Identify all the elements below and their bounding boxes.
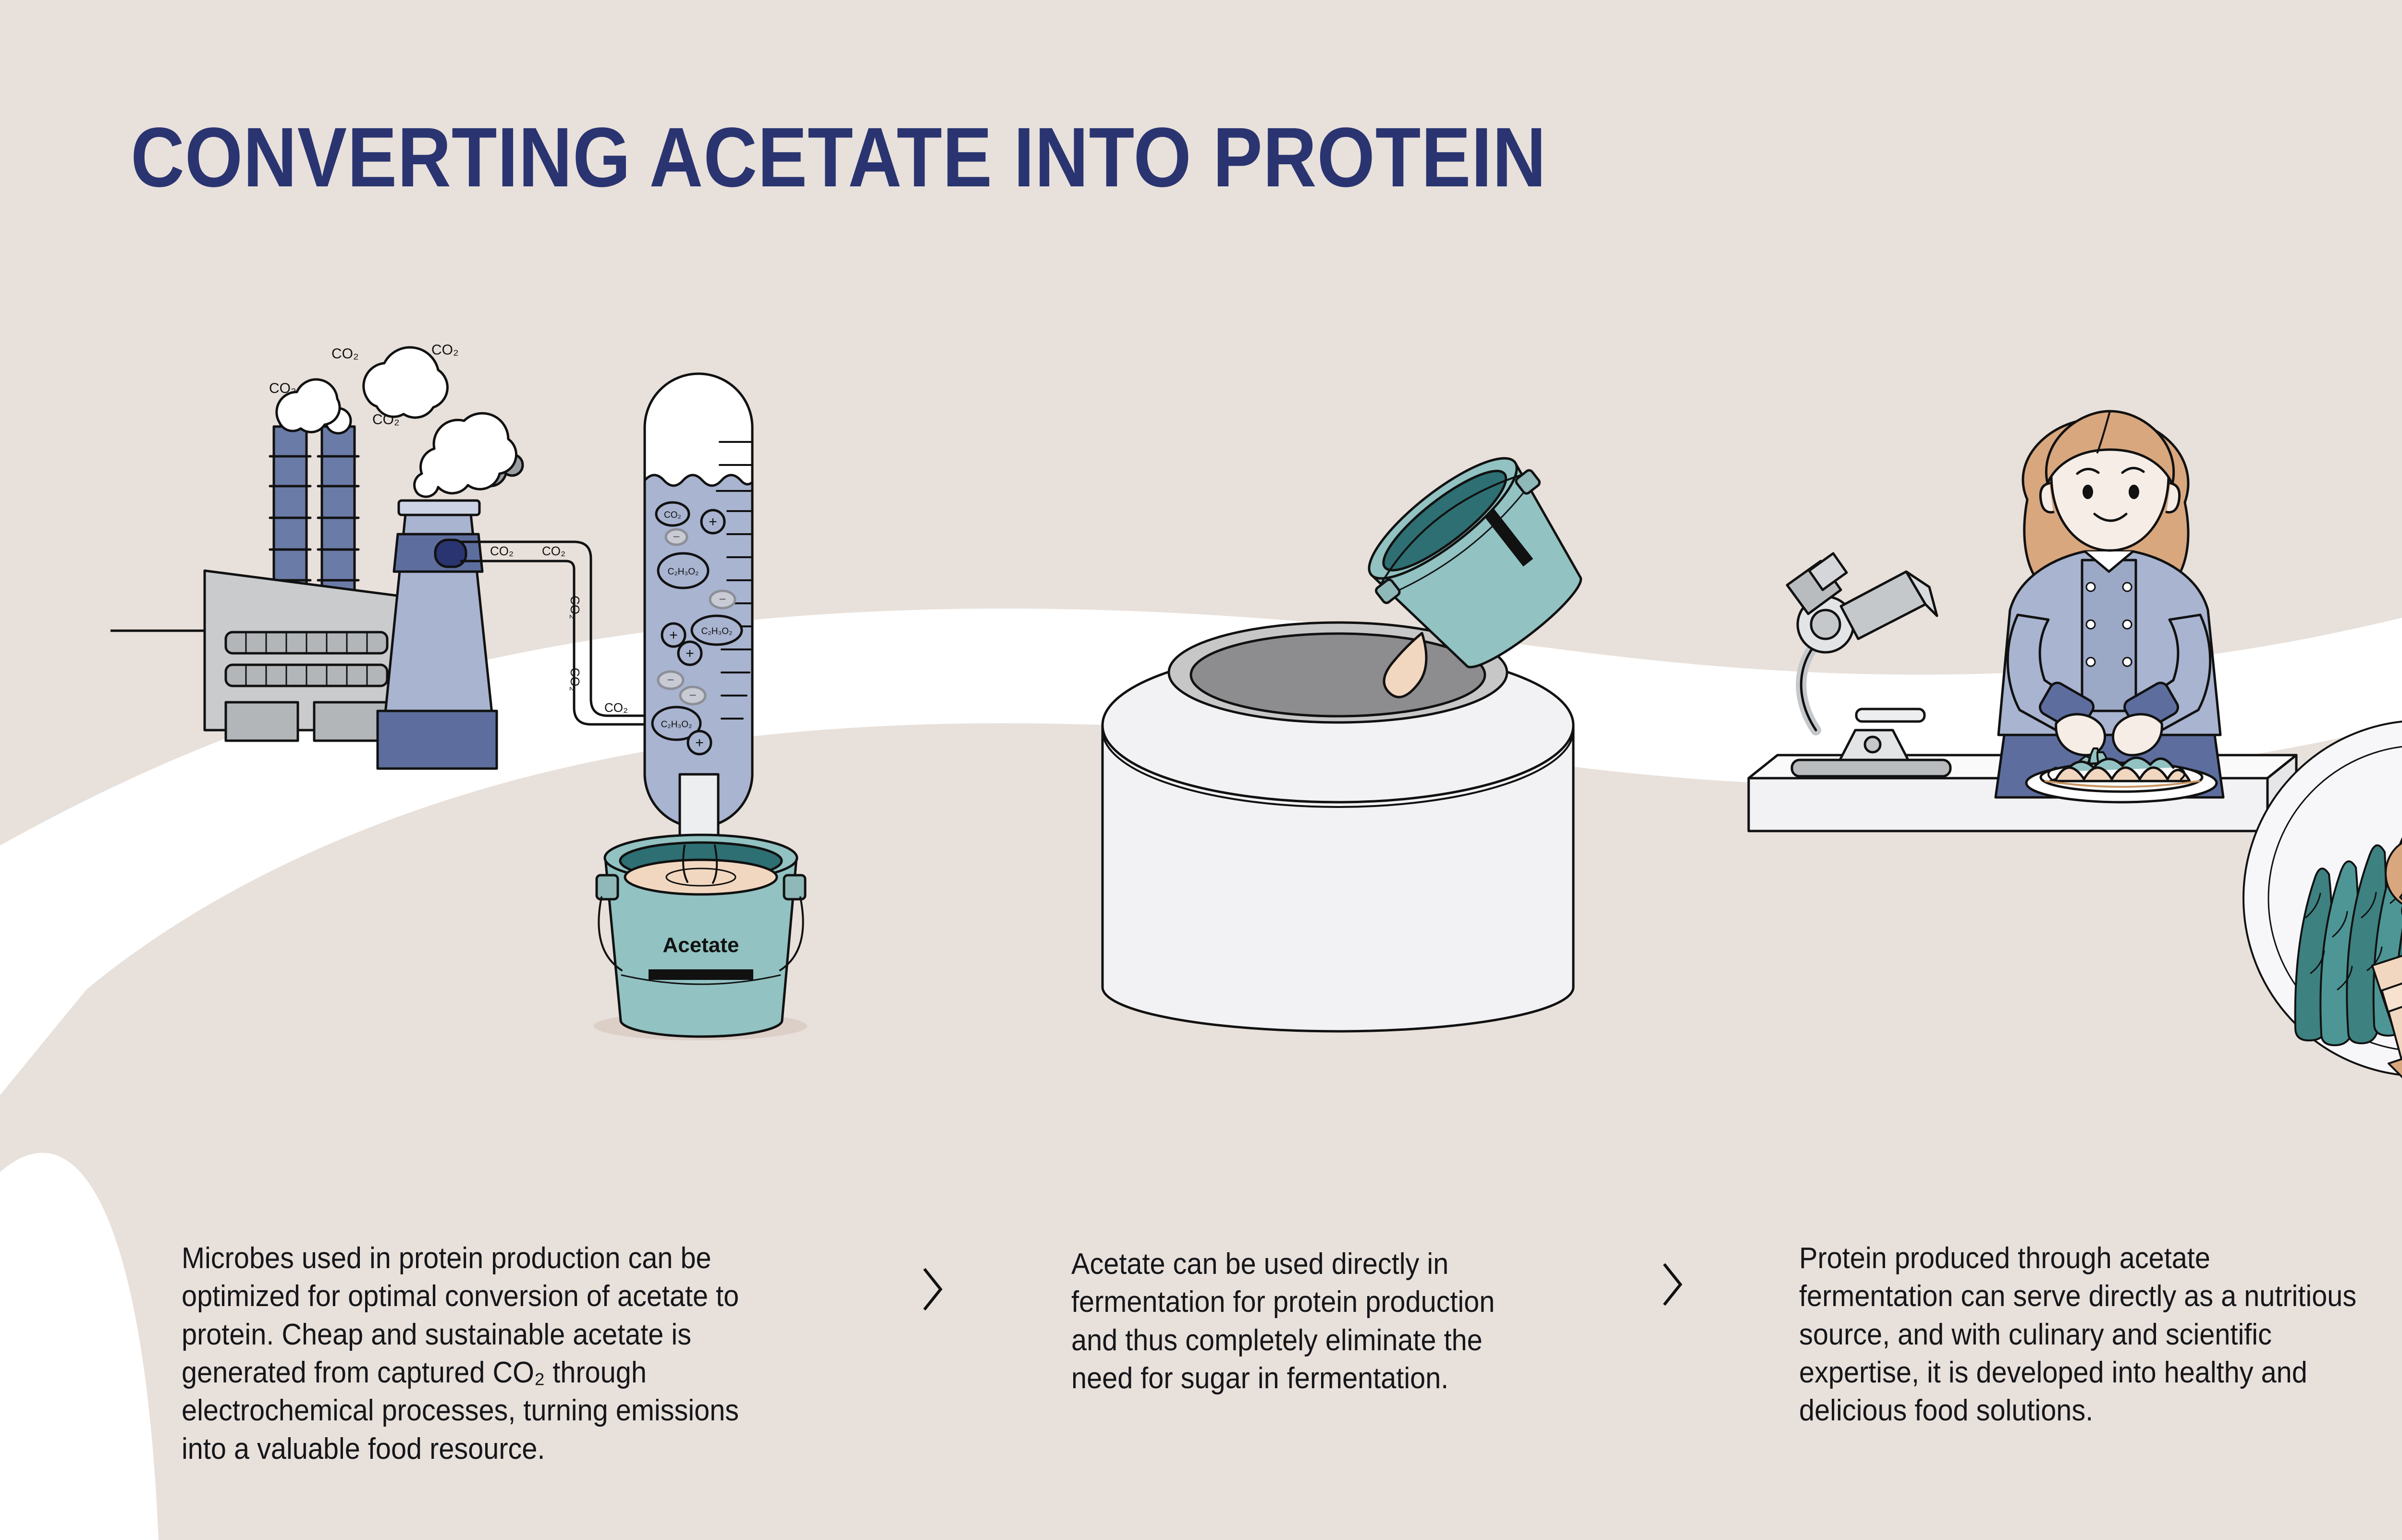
bubble-label-co2: CO₂ <box>664 510 681 520</box>
bucket-label: Acetate <box>663 933 739 957</box>
co2-pipe-label: CO₂ <box>490 544 514 558</box>
illustration-scene: CO₂ CO₂ CO₂ CO₂ <box>0 0 2402 1230</box>
illustration-fermentation-tank <box>1057 456 1633 1081</box>
caption-row: Microbes used in protein production can … <box>0 1239 2402 1489</box>
smoke-cloud-large <box>364 347 448 417</box>
bubble-label-acetate: C₂H₃O₂ <box>701 626 733 636</box>
illustration-food-plate <box>2234 711 2402 1086</box>
bubble-label-acetate: C₂H₃O₂ <box>661 720 692 730</box>
co2-label: CO₂ <box>431 342 459 358</box>
bubble-label-plus: + <box>686 646 694 661</box>
microscope <box>1787 553 1950 776</box>
bubble-label-minus: − <box>689 688 696 702</box>
step-caption-2: Acetate can be used directly in fermenta… <box>1071 1245 1545 1397</box>
co2-pipe-label: CO₂ <box>568 668 582 691</box>
illustration-factory-electrolyzer-acetate-bucket: CO₂ CO₂ CO₂ CO₂ <box>110 288 927 1153</box>
acetate-bucket: Acetate <box>594 835 807 1040</box>
electrolyzer-tube: CO₂ C₂H₃O₂ C₂H₃O₂ C₂H₃O₂ + + + + − − − − <box>645 374 752 846</box>
step-caption-3: Protein produced through acetate ferment… <box>1799 1239 2360 1430</box>
chef <box>1996 411 2223 797</box>
smoke-cloud-tower <box>415 413 523 497</box>
chevron-right-icon-1 <box>922 1267 944 1311</box>
bubble-label-plus: + <box>695 735 704 751</box>
co2-pipe-label: CO₂ <box>542 544 565 558</box>
bucket-barcode <box>649 969 753 980</box>
co2-pipe-label: CO₂ <box>604 700 628 715</box>
bubble-label-plus: + <box>709 514 717 530</box>
co2-pipe-label: CO₂ <box>568 596 582 619</box>
bubble-label-minus: − <box>667 672 674 687</box>
bubble-label-acetate: C₂H₃O₂ <box>668 567 699 577</box>
bubble-label-minus: − <box>719 592 726 606</box>
bubble-label-plus: + <box>669 627 678 643</box>
chevron-right-icon-2 <box>1662 1262 1683 1307</box>
infographic-canvas: CONVERTING ACETATE INTO PROTEIN CO₂ CO₂ … <box>0 0 2402 1540</box>
bubble-label-minus: − <box>673 529 680 544</box>
co2-label: CO₂ <box>331 346 359 362</box>
step-caption-1: Microbes used in protein production can … <box>182 1239 776 1468</box>
